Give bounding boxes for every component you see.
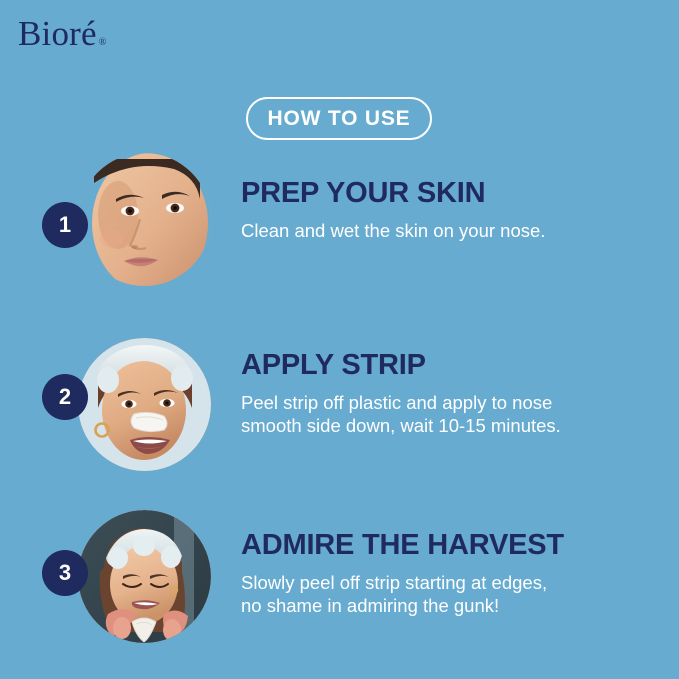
registered-trademark-icon: ® (99, 38, 107, 48)
step-3-body-line-2: no shame in admiring the gunk! (241, 594, 661, 617)
step-3-body: Slowly peel off strip starting at edges,… (241, 571, 661, 617)
step-2-body-line-2: smooth side down, wait 10-15 minutes. (241, 414, 661, 437)
how-to-use-label: HOW TO USE (268, 107, 411, 131)
step-1-photo (78, 153, 211, 286)
step-1-body-line-1: Clean and wet the skin on your nose. (241, 219, 661, 242)
step-3-number: 3 (59, 562, 71, 584)
step-2-photo (78, 338, 211, 471)
how-to-use-badge: HOW TO USE (246, 97, 432, 140)
step-3-heading: ADMIRE THE HARVEST (241, 530, 661, 562)
how-to-use-infographic: Bioré ® HOW TO USE (0, 0, 679, 679)
step-3-text: ADMIRE THE HARVEST Slowly peel off strip… (241, 530, 661, 617)
step-2-heading: APPLY STRIP (241, 350, 661, 382)
step-3-body-line-1: Slowly peel off strip starting at edges, (241, 571, 661, 594)
step-1-body: Clean and wet the skin on your nose. (241, 219, 661, 242)
step-1-number-badge: 1 (42, 202, 88, 248)
step-2-number: 2 (59, 386, 71, 408)
step-2-text: APPLY STRIP Peel strip off plastic and a… (241, 350, 661, 437)
brand-name: Bioré (18, 16, 97, 51)
step-2-body-line-1: Peel strip off plastic and apply to nose (241, 391, 661, 414)
step-3-photo (78, 510, 211, 643)
step-3-number-badge: 3 (42, 550, 88, 596)
step-1-text: PREP YOUR SKIN Clean and wet the skin on… (241, 178, 661, 242)
step-1-heading: PREP YOUR SKIN (241, 178, 661, 210)
biore-logo: Bioré ® (18, 16, 106, 51)
step-1-number: 1 (59, 214, 71, 236)
step-2-body: Peel strip off plastic and apply to nose… (241, 391, 661, 437)
step-2-number-badge: 2 (42, 374, 88, 420)
